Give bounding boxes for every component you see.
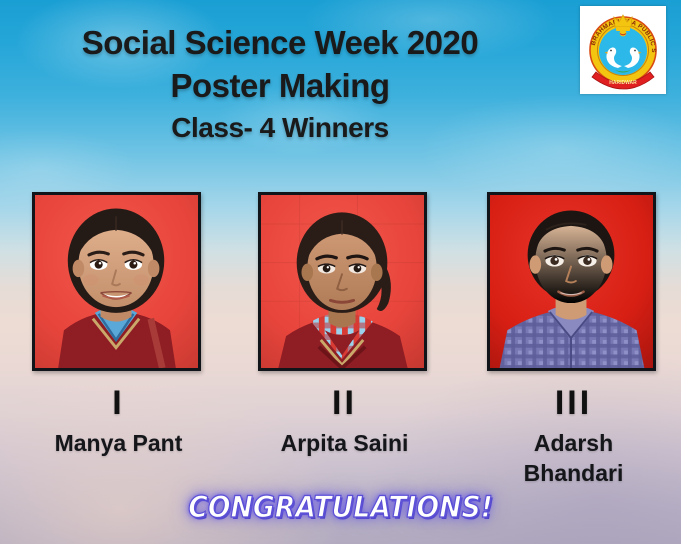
winners-row: I Manya Pant bbox=[0, 192, 681, 522]
svg-text:HARIDWAR: HARIDWAR bbox=[609, 80, 637, 86]
photo-adarsh-bhandari-image bbox=[490, 195, 653, 368]
photo-adarsh-bhandari bbox=[490, 195, 653, 368]
poster-title-line-1: Social Science Week 2020 bbox=[0, 22, 560, 64]
poster-title-line-3: Class- 4 Winners bbox=[0, 108, 560, 148]
winner-card-3: III Adarsh Bhandari bbox=[487, 192, 660, 487]
winner-name-2: Arpita Saini bbox=[258, 429, 431, 457]
photo-manya-pant bbox=[35, 195, 198, 368]
photo-frame-2 bbox=[258, 192, 427, 371]
school-crest-logo: BRAHMAPUTRA PUBLIC SCHOOL HARIDWAR bbox=[580, 6, 666, 94]
winner-card-2: II Arpita Saini bbox=[258, 192, 431, 457]
photo-arpita-saini bbox=[261, 195, 424, 368]
photo-frame-1 bbox=[32, 192, 201, 371]
winner-name-3-line1: Adarsh bbox=[487, 429, 660, 457]
poster-title-line-2: Poster Making bbox=[0, 64, 560, 108]
poster-canvas: Social Science Week 2020 Poster Making C… bbox=[0, 0, 681, 544]
poster-header: Social Science Week 2020 Poster Making C… bbox=[0, 22, 560, 148]
photo-manya-pant-image bbox=[35, 195, 198, 368]
winner-name-1: Manya Pant bbox=[32, 429, 205, 457]
school-crest-icon: BRAHMAPUTRA PUBLIC SCHOOL HARIDWAR bbox=[580, 6, 666, 94]
winner-card-1: I Manya Pant bbox=[32, 192, 205, 457]
rank-label-3: III bbox=[487, 385, 660, 421]
winner-name-3-line2: Bhandari bbox=[487, 459, 660, 487]
photo-arpita-saini-image bbox=[261, 195, 424, 368]
rank-label-2: II bbox=[258, 385, 431, 421]
rank-label-1: I bbox=[32, 385, 205, 421]
photo-frame-3 bbox=[487, 192, 656, 371]
